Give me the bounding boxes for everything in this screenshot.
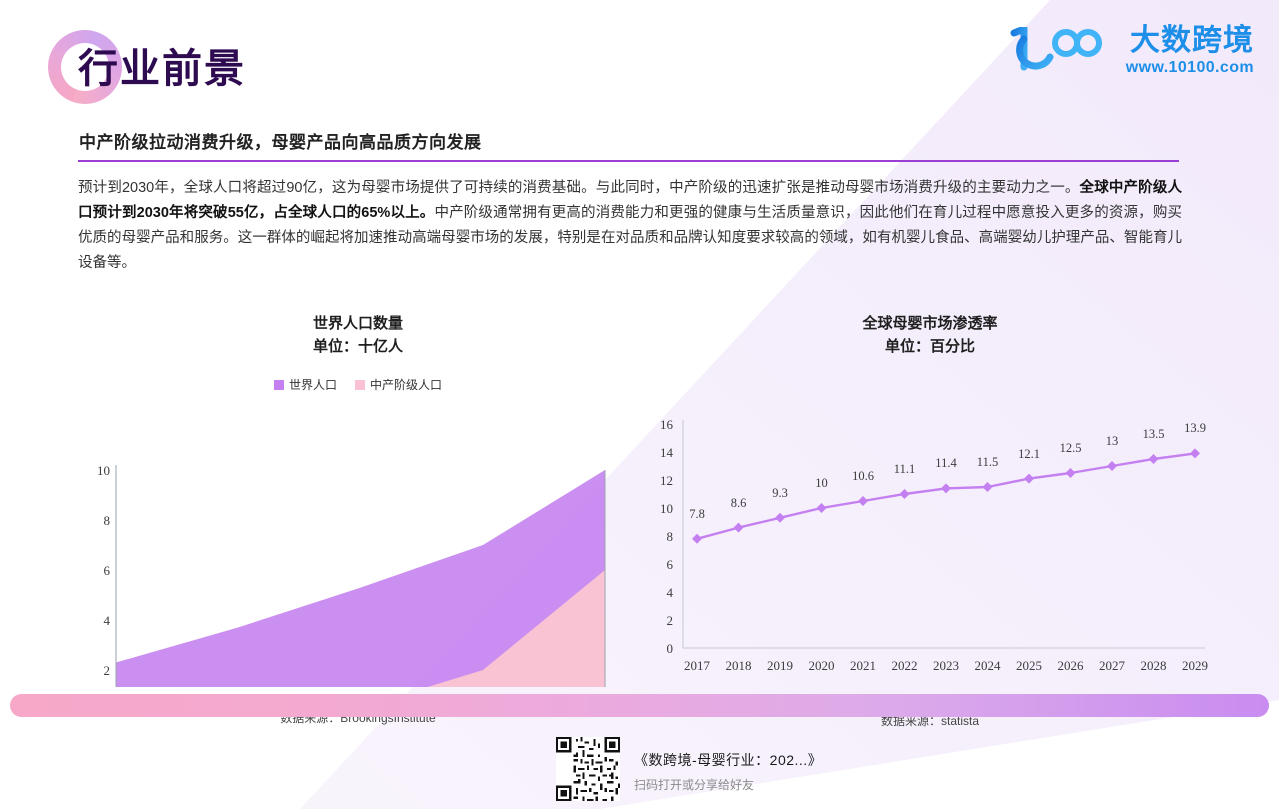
svg-text:10: 10 [97, 463, 110, 478]
section-subtitle: 中产阶级拉动消费升级，母婴产品向高品质方向发展 [79, 128, 482, 153]
slide-page: 行业前景 大数跨境 www.10100.com 中产阶级拉动消费升级，母婴产品向… [0, 0, 1279, 809]
chart-title-left-line2: 单位：十亿人 [78, 335, 638, 358]
body-part-1: 预计到2030年，全球人口将超过90亿，这为母婴市场提供了可持续的消费基础。与此… [78, 180, 1080, 196]
svg-text:2017: 2017 [684, 658, 711, 673]
svg-text:13.9: 13.9 [1184, 421, 1206, 435]
page-title: 行业前景 [78, 36, 246, 94]
chart-title-left-line1: 世界人口数量 [78, 312, 638, 335]
svg-text:8: 8 [104, 513, 111, 528]
svg-text:9.3: 9.3 [772, 486, 788, 500]
chart-title-left: 世界人口数量 单位：十亿人 [78, 312, 638, 358]
svg-text:13: 13 [1106, 434, 1119, 448]
svg-text:2025: 2025 [1016, 658, 1042, 673]
legend-item-middle-class[interactable]: 中产阶级人口 [355, 376, 442, 393]
svg-text:12.5: 12.5 [1060, 441, 1082, 455]
svg-text:2021: 2021 [850, 658, 876, 673]
10100-logo-icon [1008, 27, 1120, 73]
chart-svg-right: 16 14 12 10 8 6 4 2 0 [645, 380, 1215, 710]
svg-text:11.5: 11.5 [977, 455, 998, 469]
svg-text:2026: 2026 [1058, 658, 1085, 673]
logo-brand-name: 大数跨境 [1130, 25, 1254, 57]
svg-text:6: 6 [667, 557, 674, 572]
svg-text:10.6: 10.6 [852, 469, 874, 483]
svg-text:2: 2 [104, 663, 111, 678]
svg-text:8.6: 8.6 [731, 496, 747, 510]
section-body-text: 预计到2030年，全球人口将超过90亿，这为母婴市场提供了可持续的消费基础。与此… [78, 176, 1182, 276]
svg-text:8: 8 [667, 529, 674, 544]
svg-text:10: 10 [815, 476, 828, 490]
footer-gradient-bar [10, 694, 1269, 717]
svg-text:2028: 2028 [1141, 658, 1167, 673]
chart-legend-left: 世界人口 中产阶级人口 [78, 376, 638, 393]
footer-share-block[interactable]: 《数跨境-母婴行业：202...》 扫码打开或分享给好友 [556, 737, 822, 801]
chart-left-y-axis: 10 8 6 4 2 0 [97, 463, 111, 687]
legend-label-0: 世界人口 [289, 376, 337, 393]
svg-text:2024: 2024 [975, 658, 1002, 673]
svg-text:2029: 2029 [1182, 658, 1208, 673]
line-point-labels: 7.8 8.6 9.3 10 10.6 11.1 11.4 11.5 12.1 … [689, 421, 1206, 521]
chart-title-right-line2: 单位：百分比 [645, 335, 1215, 358]
svg-text:2023: 2023 [933, 658, 959, 673]
svg-text:4: 4 [104, 613, 111, 628]
legend-swatch-pink [355, 380, 365, 390]
svg-text:11.1: 11.1 [894, 462, 915, 476]
logo-website-url: www.10100.com [1126, 59, 1254, 77]
legend-swatch-purple [274, 380, 284, 390]
chart-title-right-line1: 全球母婴市场渗透率 [645, 312, 1215, 335]
svg-text:2019: 2019 [767, 658, 793, 673]
legend-item-world-population[interactable]: 世界人口 [274, 376, 337, 393]
chart-right-y-axis: 16 14 12 10 8 6 4 2 0 [660, 417, 674, 656]
svg-text:14: 14 [660, 445, 674, 460]
chart-world-population: 世界人口数量 单位：十亿人 世界人口 中产阶级人口 10 8 6 4 2 0 [78, 312, 638, 726]
svg-text:7.8: 7.8 [689, 507, 705, 521]
svg-text:10: 10 [660, 501, 673, 516]
footer-report-title[interactable]: 《数跨境-母婴行业：202...》 [634, 750, 822, 770]
svg-text:12: 12 [660, 473, 673, 488]
chart-svg-left: 10 8 6 4 2 0 1950 1970 1990 2010 2030 [78, 397, 638, 687]
legend-label-1: 中产阶级人口 [370, 376, 442, 393]
section-divider [78, 160, 1179, 162]
svg-text:2018: 2018 [726, 658, 752, 673]
footer-share-hint: 扫码打开或分享给好友 [634, 776, 822, 793]
svg-text:11.4: 11.4 [935, 456, 957, 470]
qr-code-icon[interactable] [556, 737, 620, 801]
svg-text:4: 4 [667, 585, 674, 600]
svg-text:16: 16 [660, 417, 674, 432]
svg-text:2: 2 [667, 613, 674, 628]
svg-text:13.5: 13.5 [1143, 427, 1165, 441]
svg-text:6: 6 [104, 563, 111, 578]
chart-title-right: 全球母婴市场渗透率 单位：百分比 [645, 312, 1215, 358]
chart-right-x-axis: 2017 2018 2019 2020 2021 2022 2023 2024 … [684, 658, 1208, 673]
svg-text:2027: 2027 [1099, 658, 1126, 673]
svg-text:12.1: 12.1 [1018, 447, 1040, 461]
chart-market-penetration: 全球母婴市场渗透率 单位：百分比 16 14 12 10 8 6 4 2 0 [645, 312, 1215, 729]
brand-logo[interactable]: 大数跨境 www.10100.com [1008, 25, 1254, 77]
svg-text:0: 0 [667, 641, 674, 656]
svg-text:2020: 2020 [809, 658, 835, 673]
svg-text:2022: 2022 [892, 658, 918, 673]
footer-text-group: 《数跨境-母婴行业：202...》 扫码打开或分享给好友 [634, 737, 822, 793]
